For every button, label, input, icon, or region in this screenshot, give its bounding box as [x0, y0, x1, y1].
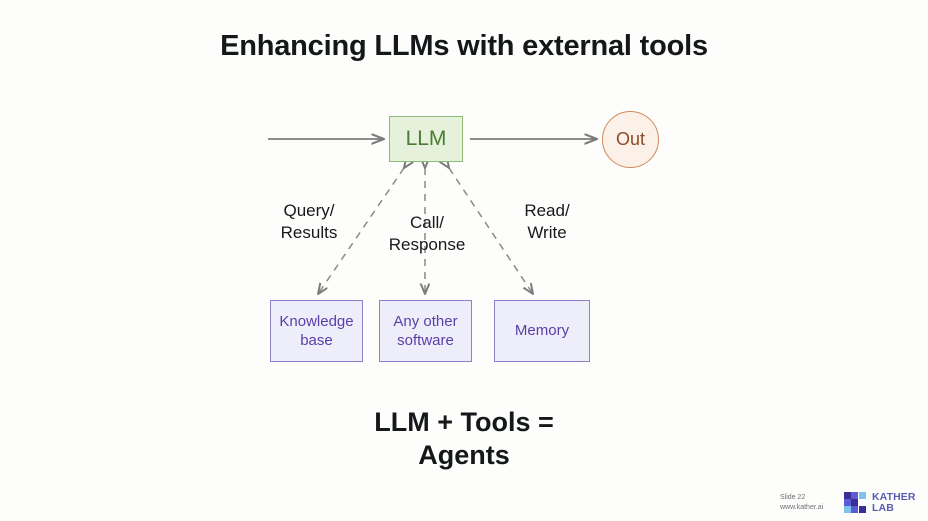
edge-label-query-results: Query/ Results: [250, 200, 368, 245]
slide-canvas: Enhancing LLMs with external tools: [0, 0, 928, 521]
node-any-other-software[interactable]: Any other software: [379, 300, 472, 362]
node-memory[interactable]: Memory: [494, 300, 590, 362]
slide-caption: LLM + Tools = Agents: [0, 406, 928, 472]
node-llm[interactable]: LLM: [389, 116, 463, 162]
kather-lab-logo: KATHER LAB: [844, 491, 916, 516]
kather-lab-logo-text: KATHER LAB: [872, 492, 916, 515]
slide-footer: Slide 22 www.kather.ai KATHER LAB: [780, 488, 924, 518]
edge-label-call-response: Call/ Response: [372, 212, 482, 257]
edge-label-read-write: Read/ Write: [493, 200, 601, 245]
footer-slide-info: Slide 22 www.kather.ai: [780, 493, 838, 513]
kather-lab-logo-mark: [844, 491, 869, 516]
node-out[interactable]: Out: [602, 111, 659, 168]
node-knowledge-base[interactable]: Knowledge base: [270, 300, 363, 362]
